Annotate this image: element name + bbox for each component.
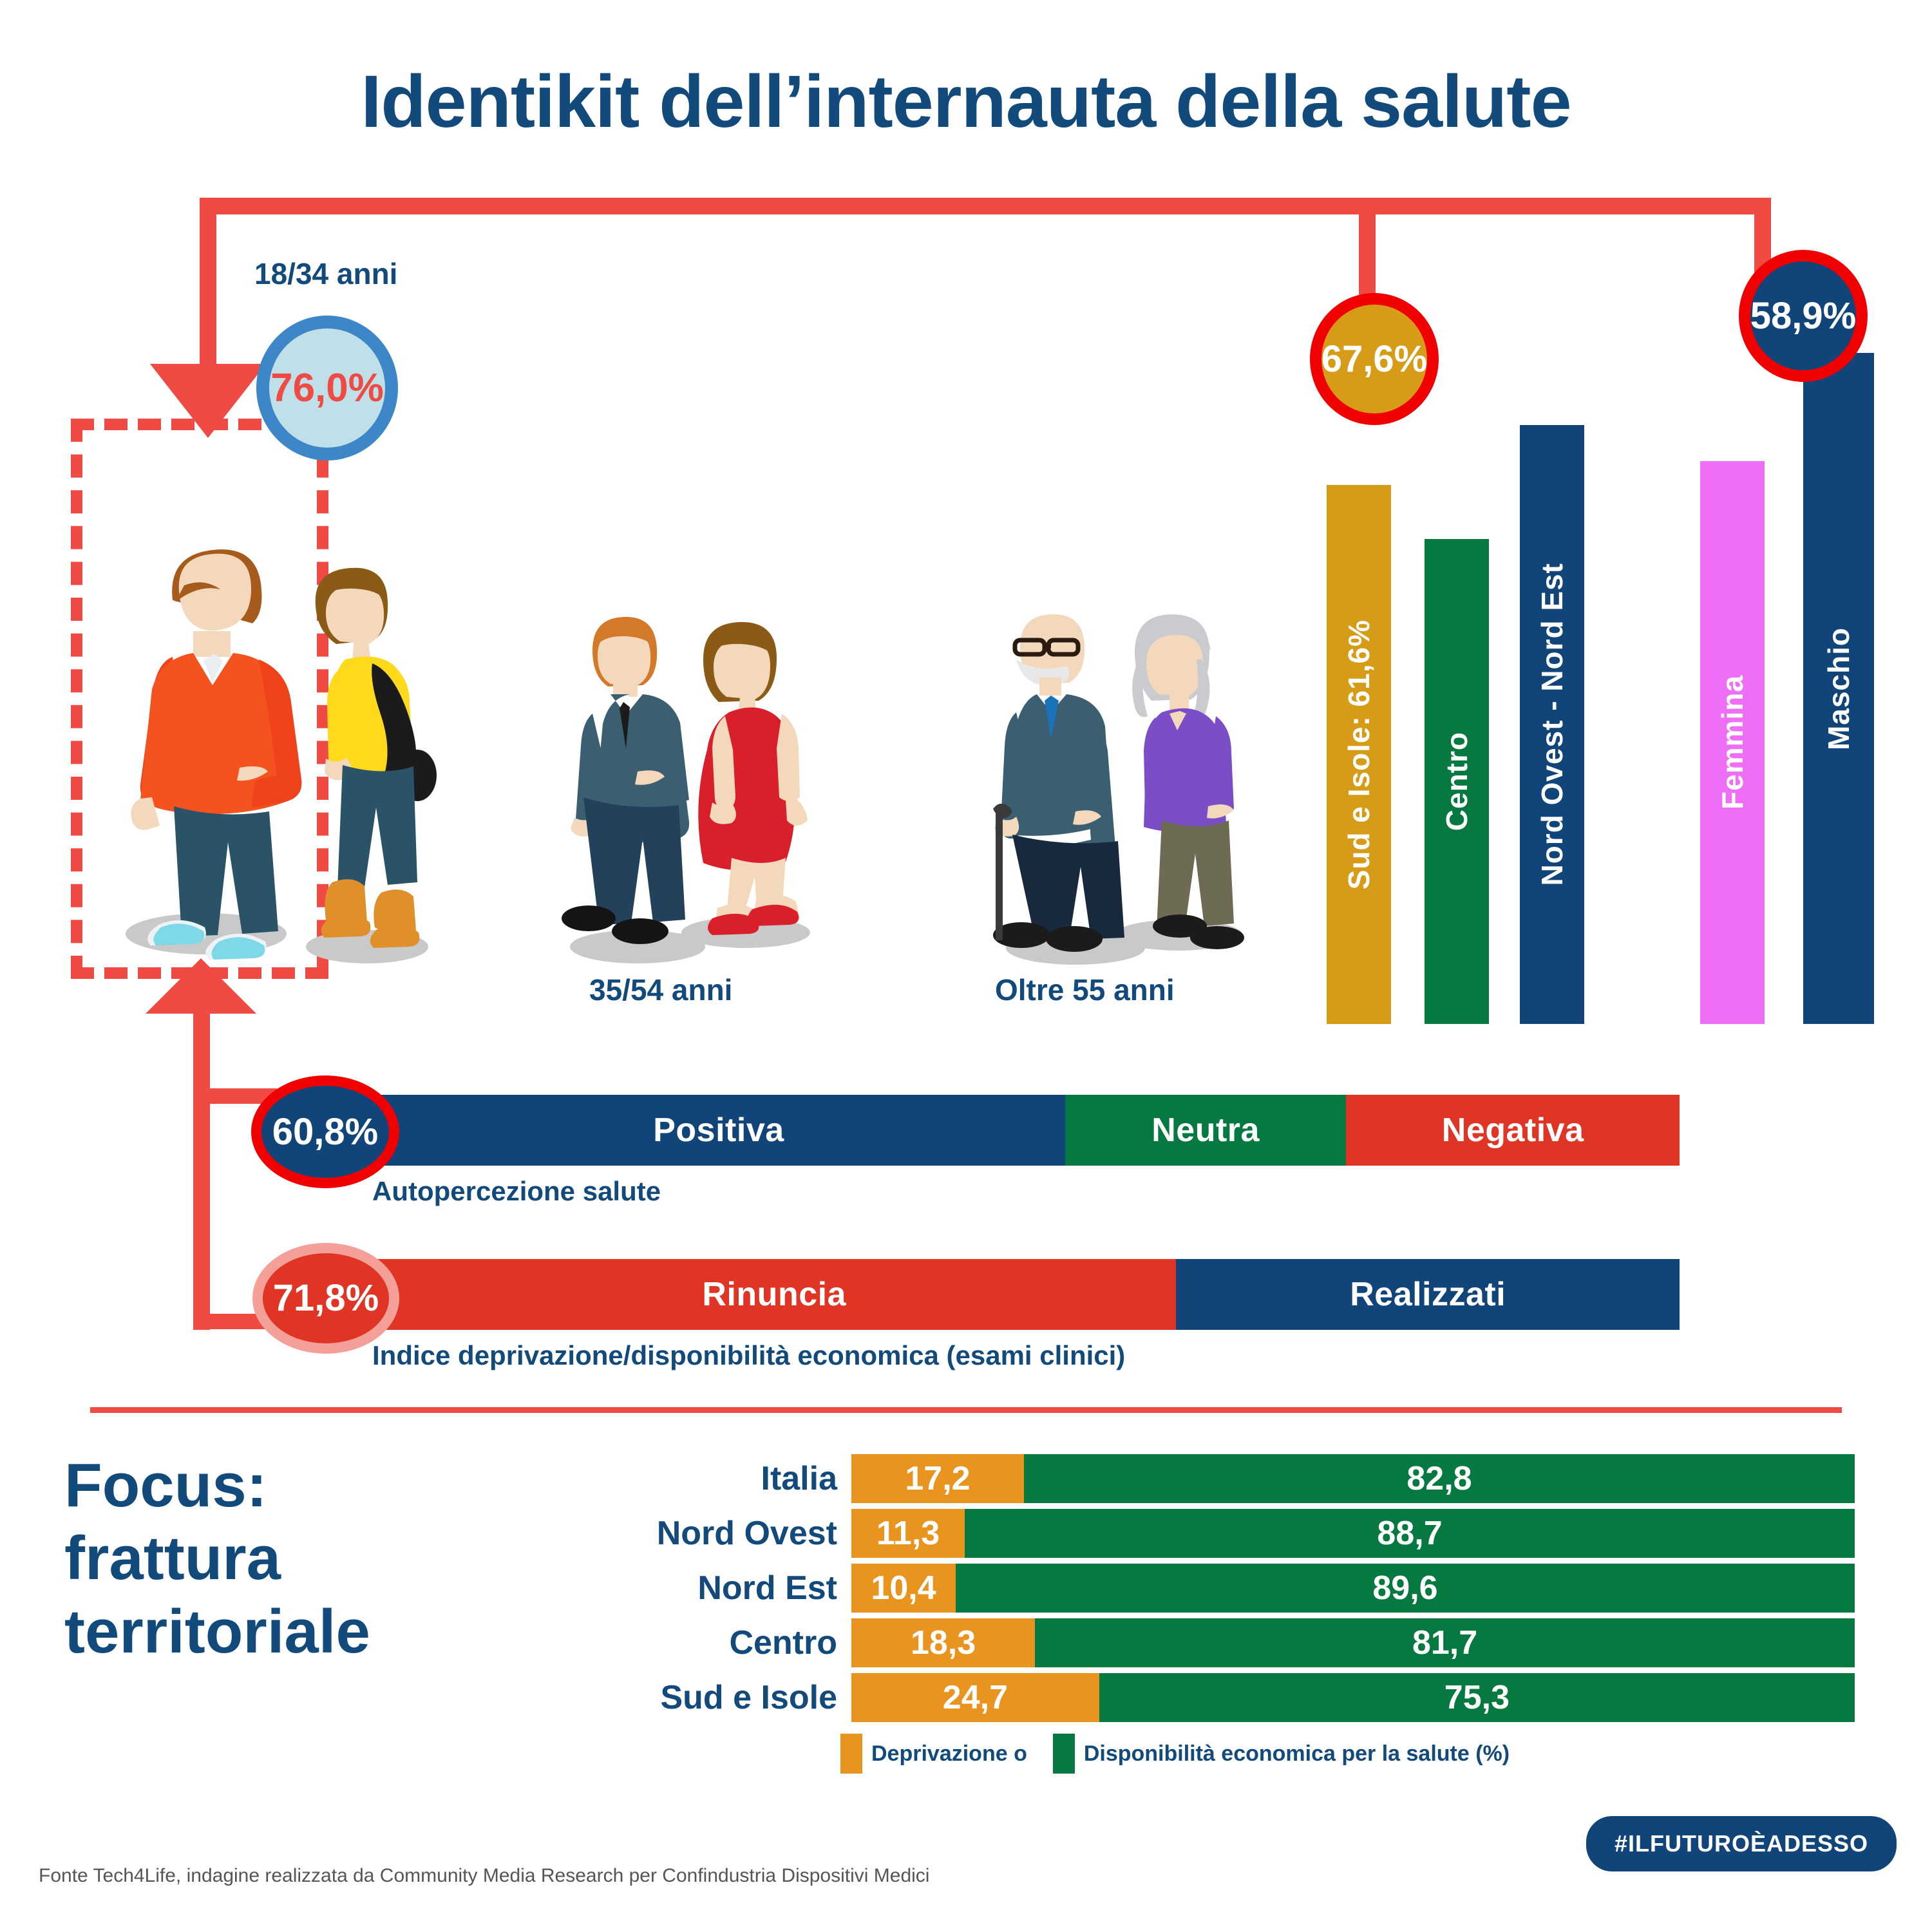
chart-row-label: Nord Est <box>502 1569 851 1607</box>
perception-badge: 60,8% <box>251 1075 399 1188</box>
chart-row: Sud e Isole 24,7 75,3 <box>502 1673 1855 1722</box>
bar-femmina[interactable]: Femmina <box>1700 461 1765 1024</box>
page-title: Identikit dell’internauta della salute <box>0 59 1932 144</box>
chart-seg-disponibilita[interactable]: 81,7 <box>1035 1618 1855 1667</box>
focus-title: Focus: frattura territoriale <box>64 1449 425 1668</box>
focus-title-line3: territoriale <box>64 1595 425 1668</box>
area-highlight-badge: 67,6% <box>1310 293 1439 425</box>
chart-value-disponibilita: 88,7 <box>1377 1514 1442 1553</box>
source-note: Fonte Tech4Life, indagine realizzata da … <box>39 1865 929 1887</box>
chart-row-label: Sud e Isole <box>502 1678 851 1717</box>
chart-row-label: Centro <box>502 1624 851 1662</box>
legend-label-deprivazione: Deprivazione o <box>871 1741 1027 1766</box>
age-group-label-senior: Oltre 55 anni <box>995 972 1175 1007</box>
chart-value-deprivazione: 18,3 <box>911 1624 976 1662</box>
bar-label-femmina: Femmina <box>1715 675 1750 810</box>
people-illustration-senior <box>992 605 1262 972</box>
connector-left-vertical <box>200 198 216 378</box>
perception-bar-caption: Autopercezione salute <box>372 1176 1680 1207</box>
chart-value-disponibilita: 75,3 <box>1444 1678 1510 1717</box>
chart-row: Nord Ovest 11,3 88,7 <box>502 1509 1855 1558</box>
age-group-label-young: 18/34 anni <box>254 256 397 291</box>
chart-seg-deprivazione[interactable]: 11,3 <box>851 1509 965 1558</box>
segment-label-neutra: Neutra <box>1151 1111 1260 1150</box>
focus-title-line1: Focus: <box>64 1449 425 1522</box>
chart-value-deprivazione: 10,4 <box>871 1569 936 1607</box>
chart-row: Centro 18,3 81,7 <box>502 1618 1855 1667</box>
legend-swatch-deprivazione <box>840 1734 862 1774</box>
segment-neutra[interactable]: Neutra <box>1065 1095 1346 1166</box>
chart-value-disponibilita: 82,8 <box>1406 1459 1472 1498</box>
chart-seg-disponibilita[interactable]: 75,3 <box>1099 1673 1855 1722</box>
focus-title-line2: frattura <box>64 1522 425 1595</box>
bar-label-sud-e-isole: Sud e Isole: 61,6% <box>1341 620 1376 889</box>
chart-seg-disponibilita[interactable]: 89,6 <box>956 1564 1855 1613</box>
deprivation-badge-value: 71,8% <box>273 1280 379 1317</box>
connector-bracket-vertical <box>193 1008 210 1330</box>
gender-bars-group: Femmina Maschio <box>1700 425 1906 1024</box>
chart-value-disponibilita: 81,7 <box>1412 1624 1477 1662</box>
section-divider <box>90 1407 1842 1413</box>
chart-value-deprivazione: 17,2 <box>905 1459 970 1498</box>
chart-row-label: Nord Ovest <box>502 1514 851 1553</box>
arrow-up-icon <box>146 958 256 1014</box>
gender-highlight-badge: 58,9% <box>1739 250 1868 382</box>
bar-centro[interactable]: Centro <box>1425 539 1489 1024</box>
bar-label-maschio: Maschio <box>1821 627 1856 750</box>
deprivation-bar-caption: Indice deprivazione/disponibilità econom… <box>372 1340 1680 1371</box>
segment-label-negativa: Negativa <box>1442 1111 1584 1150</box>
segment-negativa[interactable]: Negativa <box>1346 1095 1680 1166</box>
chart-legend: Deprivazione o Disponibilità economica p… <box>840 1734 1855 1774</box>
perception-bar-row: Positiva Neutra Negativa Autopercezione … <box>372 1095 1680 1207</box>
segment-label-rinuncia: Rinuncia <box>702 1275 846 1314</box>
chart-value-deprivazione: 24,7 <box>943 1678 1008 1717</box>
chart-row: Nord Est 10,4 89,6 <box>502 1564 1855 1613</box>
segment-positiva[interactable]: Positiva <box>372 1095 1065 1166</box>
hashtag-badge: #ILFUTUROÈADESSO <box>1586 1816 1897 1871</box>
focus-chart: Italia 17,2 82,8 Nord Ovest 11,3 88,7 No… <box>502 1454 1855 1774</box>
perception-badge-value: 60,8% <box>272 1113 378 1151</box>
chart-seg-deprivazione[interactable]: 10,4 <box>851 1564 956 1613</box>
bar-sud-e-isole[interactable]: Sud e Isole: 61,6% <box>1327 485 1391 1024</box>
bar-maschio[interactable]: Maschio <box>1803 353 1874 1024</box>
chart-seg-deprivazione[interactable]: 18,3 <box>851 1618 1035 1667</box>
bar-label-centro: Centro <box>1439 732 1474 831</box>
chart-seg-disponibilita[interactable]: 88,7 <box>965 1509 1855 1558</box>
people-illustration-middle <box>560 605 831 972</box>
deprivation-bar-row: Rinuncia Realizzati Indice deprivazione/… <box>372 1259 1680 1371</box>
people-illustration-young <box>97 438 457 972</box>
chart-seg-disponibilita[interactable]: 82,8 <box>1024 1454 1855 1503</box>
chart-row-label: Italia <box>502 1459 851 1498</box>
chart-row: Italia 17,2 82,8 <box>502 1454 1855 1503</box>
gender-highlight-value: 58,9% <box>1750 298 1856 335</box>
chart-value-deprivazione: 11,3 <box>876 1514 940 1553</box>
age-group-label-middle: 35/54 anni <box>589 972 732 1007</box>
segment-label-realizzati: Realizzati <box>1350 1275 1506 1314</box>
legend-swatch-disponibilita <box>1053 1734 1075 1774</box>
chart-value-disponibilita: 89,6 <box>1372 1569 1437 1607</box>
segment-rinuncia[interactable]: Rinuncia <box>372 1259 1176 1330</box>
connector-top-horizontal <box>200 198 1771 214</box>
area-bars-group: Sud e Isole: 61,6% Centro Nord Ovest - N… <box>1327 425 1597 1024</box>
chart-seg-deprivazione[interactable]: 17,2 <box>851 1454 1024 1503</box>
age-group-value-young: 76,0% <box>270 368 384 408</box>
legend-label-disponibilita: Disponibilità economica per la salute (%… <box>1084 1741 1510 1766</box>
segment-label-positiva: Positiva <box>653 1111 784 1150</box>
deprivation-badge: 71,8% <box>252 1243 399 1354</box>
chart-seg-deprivazione[interactable]: 24,7 <box>851 1673 1099 1722</box>
segment-realizzati[interactable]: Realizzati <box>1176 1259 1680 1330</box>
bar-nord-ovest-nord-est[interactable]: Nord Ovest - Nord Est <box>1520 425 1584 1024</box>
bar-label-nord-ovest-nord-est: Nord Ovest - Nord Est <box>1535 563 1569 886</box>
area-highlight-value: 67,6% <box>1321 341 1427 378</box>
